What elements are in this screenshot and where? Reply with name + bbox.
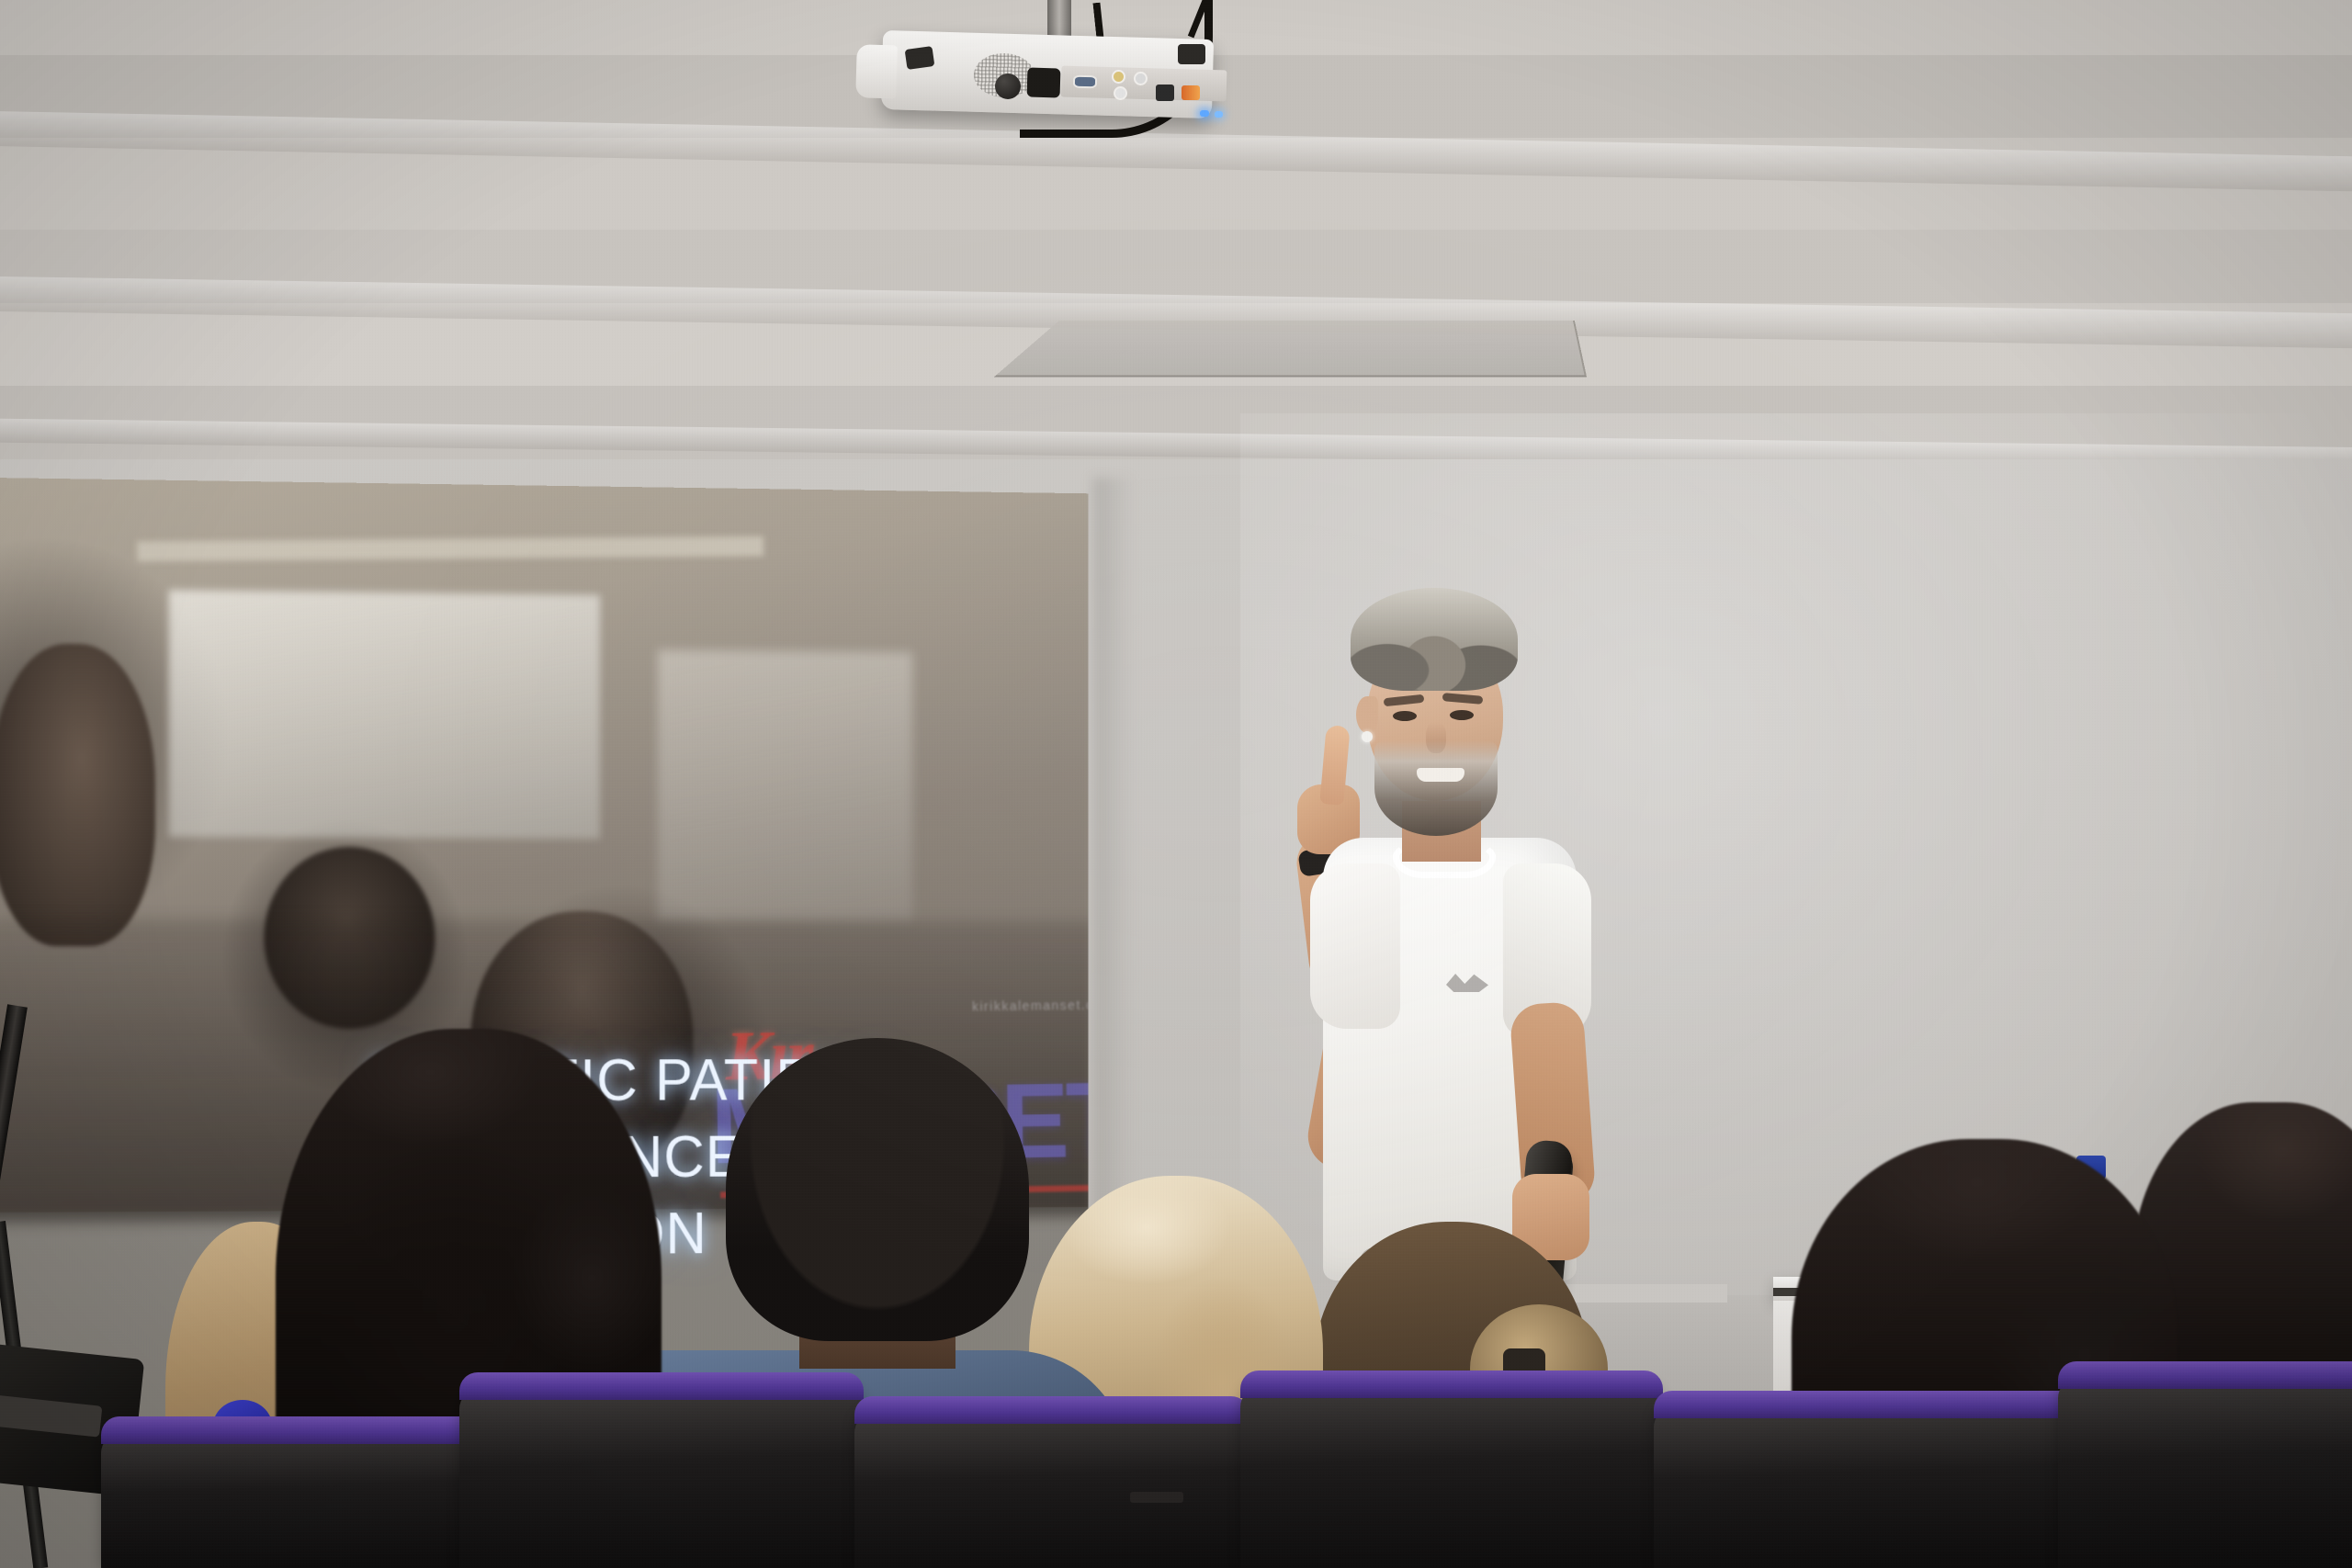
rca-white-port-icon — [1134, 72, 1148, 85]
projector-focus-knob — [995, 73, 1021, 99]
manset-logo-caption: kirikkalemanset.com — [972, 998, 1089, 1015]
projector-foot — [905, 46, 935, 70]
vga-port-icon — [1073, 75, 1097, 89]
projector-led-icon — [1215, 111, 1223, 118]
auditorium-seat — [101, 1433, 487, 1568]
auditorium-seat — [2058, 1378, 2352, 1568]
power-port-icon — [1156, 85, 1174, 101]
speaker-sleeve — [1310, 863, 1400, 1029]
audience-member — [726, 1038, 1029, 1341]
speaker-eye — [1450, 710, 1474, 720]
slide-photo-window — [658, 649, 913, 920]
orange-switch-icon — [1182, 85, 1200, 100]
projector-led-icon — [1200, 110, 1209, 117]
earring-icon — [1362, 731, 1373, 742]
rca-yellow-port-icon — [1112, 70, 1125, 84]
seat-slot — [1130, 1492, 1183, 1503]
slide-photo-person — [0, 643, 155, 946]
auditorium-seat — [1240, 1387, 1663, 1568]
presentation-photo: kirikkalemanset.com Kır MANŞET GUNLUK SI… — [0, 0, 2352, 1568]
speaker-eye — [1393, 711, 1417, 721]
auditorium-seat — [854, 1413, 1249, 1568]
auditorium-seat — [459, 1389, 864, 1568]
auditorium-seat — [1654, 1407, 2086, 1568]
slide-photo-window — [169, 590, 600, 839]
speaker-hair — [1351, 588, 1518, 691]
projector-foot — [1178, 44, 1205, 64]
rca-red-port-icon — [1114, 86, 1127, 100]
ceiling-hatch-panel — [994, 321, 1587, 377]
slide-photo-shelf — [137, 536, 763, 562]
projector-connector — [1027, 68, 1061, 98]
speaker-ear — [1356, 696, 1378, 733]
speaker-beard — [1374, 740, 1498, 836]
speaker-mouth — [1417, 768, 1464, 782]
